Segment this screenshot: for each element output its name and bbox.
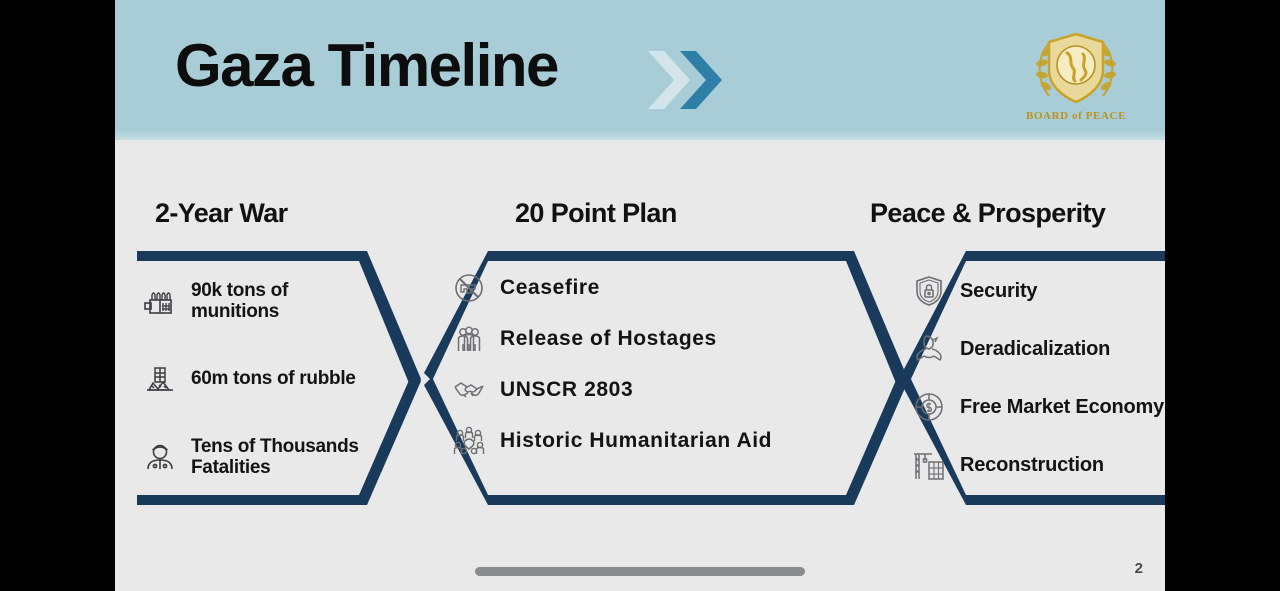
item-list-peace-prosperity: Security Deradicalization: [910, 262, 1165, 494]
item-list-2-year-war: 90k tons of munitions 60m tons of rubble: [141, 262, 371, 496]
list-item: Release of Hostages: [450, 313, 840, 364]
list-item: Tens of Thousands Fatalities: [141, 418, 371, 496]
list-item-label: UNSCR 2803: [500, 378, 633, 402]
header-chevron-group: [644, 49, 754, 111]
list-item: Free Market Economy: [910, 378, 1165, 436]
column-heading-2-year-war: 2-Year War: [155, 200, 288, 227]
board-of-peace-emblem: BOARD of PEACE: [1023, 20, 1129, 124]
page-number: 2: [1135, 560, 1143, 577]
group-of-people-icon: [450, 320, 488, 358]
rubble-icon: [141, 360, 179, 398]
no-gun-ceasefire-icon: [450, 269, 488, 307]
list-item: Deradicalization: [910, 320, 1165, 378]
list-item-label: Deradicalization: [960, 338, 1110, 360]
list-item-label: Tens of Thousands Fatalities: [191, 436, 371, 479]
page-title: Gaza Timeline: [175, 36, 558, 96]
list-item-label: Release of Hostages: [500, 327, 717, 351]
dove-hands-icon: [910, 330, 948, 368]
slide-viewer: Gaza Timeline: [0, 0, 1280, 591]
svg-text:BOARD of PEACE: BOARD of PEACE: [1026, 110, 1126, 122]
list-item-label: Free Market Economy: [960, 396, 1164, 418]
shield-lock-icon: [910, 272, 948, 310]
column-heading-peace-prosperity: Peace & Prosperity: [870, 200, 1105, 227]
munitions-crate-icon: [141, 282, 179, 320]
list-item: UNSCR 2803: [450, 364, 840, 415]
list-item-label: Reconstruction: [960, 454, 1104, 476]
dollar-target-icon: [910, 388, 948, 426]
list-item-label: Security: [960, 280, 1037, 302]
slide-header: Gaza Timeline: [115, 0, 1165, 140]
list-item-label: Historic Humanitarian Aid: [500, 429, 772, 453]
list-item-label: 60m tons of rubble: [191, 368, 356, 389]
horizontal-scrollbar[interactable]: [475, 567, 1135, 577]
list-item-label: Ceasefire: [500, 276, 600, 300]
list-item: Ceasefire: [450, 262, 840, 313]
item-list-20-point-plan: Ceasefire Release of Hostages: [450, 262, 840, 466]
crane-building-icon: [910, 446, 948, 484]
chevron-right-icon-front: [678, 49, 722, 111]
casualty-person-icon: [141, 438, 179, 476]
humanitarian-aid-people-icon: [450, 422, 488, 460]
header-sheen: [115, 130, 1165, 140]
horizontal-scrollbar-thumb[interactable]: [475, 567, 805, 576]
handshake-icon: [450, 371, 488, 409]
list-item-label: 90k tons of munitions: [191, 280, 371, 323]
list-item: Security: [910, 262, 1165, 320]
list-item: 90k tons of munitions: [141, 262, 371, 340]
list-item: Reconstruction: [910, 436, 1165, 494]
list-item: 60m tons of rubble: [141, 340, 371, 418]
column-heading-20-point-plan: 20 Point Plan: [515, 200, 677, 227]
list-item: Historic Humanitarian Aid: [450, 415, 840, 466]
slide-canvas: Gaza Timeline: [115, 0, 1165, 591]
